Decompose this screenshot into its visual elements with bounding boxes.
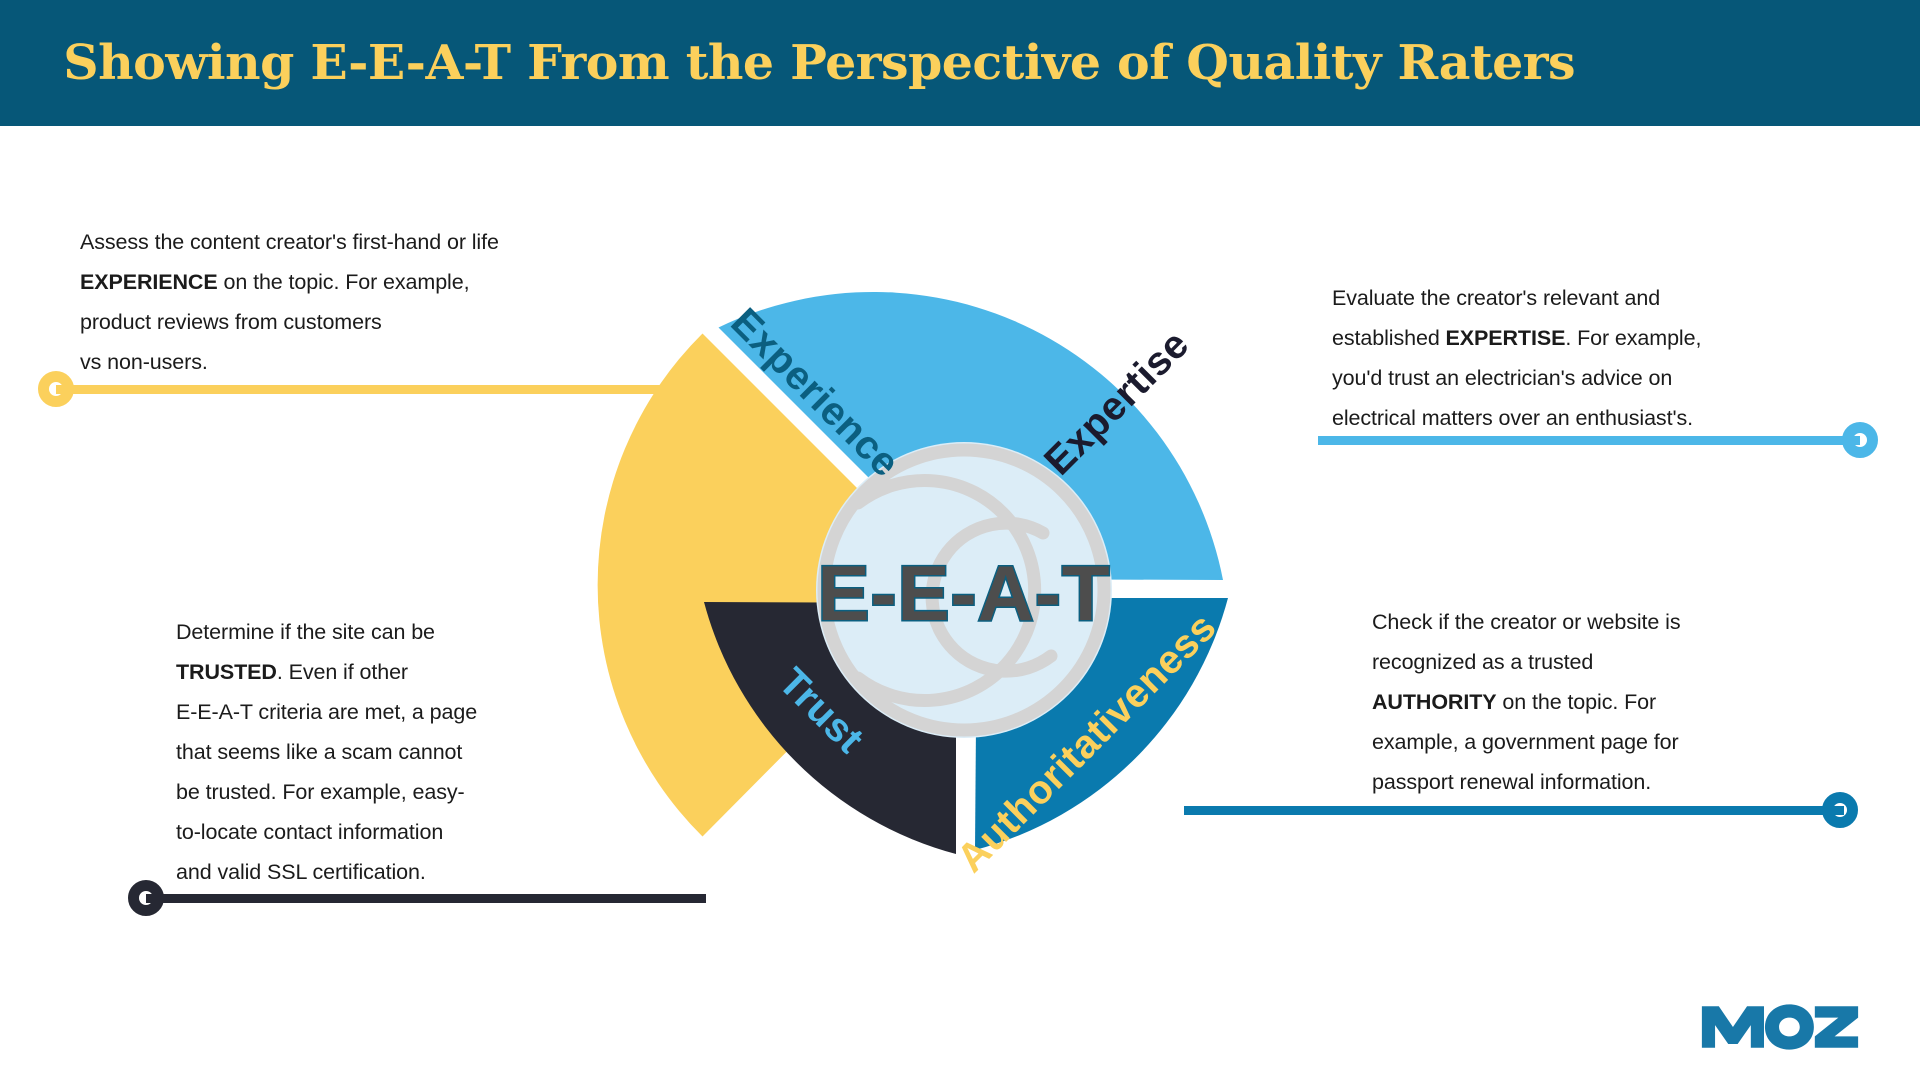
callout-authoritativeness-line5: passport renewal information.	[1372, 770, 1651, 794]
callout-authoritativeness: Check if the creator or website is recog…	[1372, 602, 1832, 802]
callout-expertise: Evaluate the creator's relevant and esta…	[1332, 278, 1912, 438]
eeat-center-label: E-E-A-T	[818, 549, 1111, 637]
callout-expertise-line4: electrical matters over an enthusiast's.	[1332, 406, 1693, 430]
moz-wordmark	[1702, 1004, 1858, 1049]
callout-experience-line4: vs non-users.	[80, 350, 208, 374]
callout-expertise-keyword: EXPERTISE	[1446, 326, 1566, 350]
header-bar: Showing E-E-A-T From the Perspective of …	[0, 0, 1920, 126]
moz-logo	[1700, 1004, 1860, 1050]
callout-trust-line4: that seems like a scam cannot	[176, 740, 462, 764]
callout-trust-keyword: TRUSTED	[176, 660, 277, 684]
callout-experience-keyword: EXPERIENCE	[80, 270, 218, 294]
callout-authoritativeness-line4: example, a government page for	[1372, 730, 1679, 754]
callout-authoritativeness-line3: on the topic. For	[1497, 690, 1657, 714]
callout-trust-line5: be trusted. For example, easy-	[176, 780, 465, 804]
connector-dot-experience	[38, 371, 74, 407]
callout-experience-line1: Assess the content creator's first-hand …	[80, 230, 499, 254]
page-title: Showing E-E-A-T From the Perspective of …	[0, 35, 1575, 91]
callout-authoritativeness-line1: Check if the creator or website is	[1372, 610, 1680, 634]
callout-trust-line6: to-locate contact information	[176, 820, 443, 844]
connector-line-experience	[56, 385, 672, 394]
callout-authoritativeness-keyword: AUTHORITY	[1372, 690, 1497, 714]
callout-expertise-line2-pre: established	[1332, 326, 1446, 350]
callout-experience-line3: product reviews from customers	[80, 310, 382, 334]
callout-trust: Determine if the site can be TRUSTED. Ev…	[176, 612, 596, 892]
callout-trust-line1: Determine if the site can be	[176, 620, 435, 644]
callout-trust-line7: and valid SSL certification.	[176, 860, 426, 884]
callout-expertise-line2-post: . For example,	[1565, 326, 1701, 350]
eeat-pie-diagram: E-E-A-T Experience Expertise Authoritati…	[596, 222, 1332, 958]
callout-expertise-line3: you'd trust an electrician's advice on	[1332, 366, 1672, 390]
callout-experience-line2: on the topic. For example,	[218, 270, 470, 294]
callout-authoritativeness-line2: recognized as a trusted	[1372, 650, 1593, 674]
callout-trust-line3: E-E-A-T criteria are met, a page	[176, 700, 477, 724]
callout-trust-line2: . Even if other	[277, 660, 408, 684]
connector-dot-trust	[128, 880, 164, 916]
callout-expertise-line1: Evaluate the creator's relevant and	[1332, 286, 1660, 310]
